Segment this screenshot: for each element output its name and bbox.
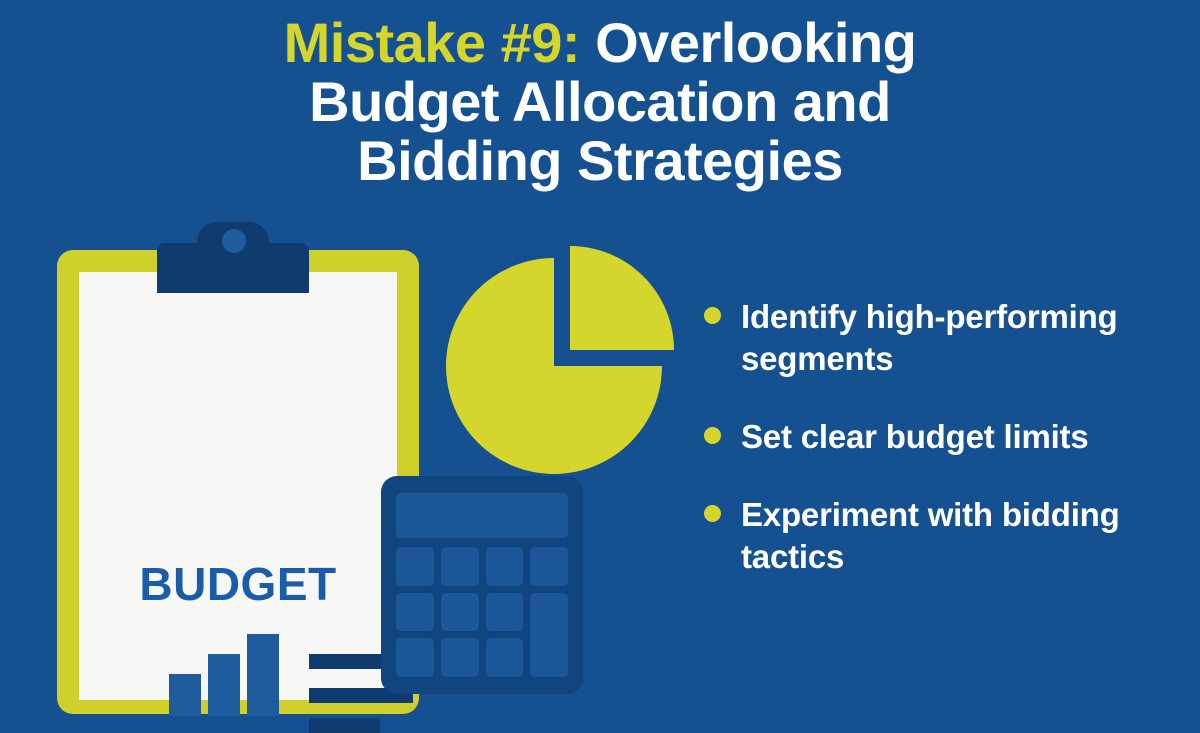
list-item: Identify high-performing segments: [704, 296, 1174, 380]
clipboard-clip-hole-icon: [222, 229, 246, 253]
calculator-display: [396, 493, 568, 538]
bar-chart-bar-2: [208, 654, 240, 716]
title-line-1: Mistake #9: Overlooking: [0, 14, 1200, 73]
calculator-key: [530, 547, 568, 586]
title-line-3: Bidding Strategies: [0, 132, 1200, 191]
calculator-key: [486, 593, 524, 632]
title-accent-text: Mistake #9:: [284, 11, 580, 74]
bullet-dot-icon: [704, 505, 721, 522]
calculator-keypad: [396, 547, 568, 677]
bullet-text: Identify high-performing segments: [741, 296, 1174, 380]
bullet-dot-icon: [704, 307, 721, 324]
bar-chart-bar-1: [169, 674, 201, 716]
page-title: Mistake #9: Overlooking Budget Allocatio…: [0, 14, 1200, 190]
calculator-key: [396, 638, 434, 677]
calculator-key-tall: [530, 593, 568, 677]
calculator-key: [441, 593, 479, 632]
title-line-1-rest: Overlooking: [580, 11, 916, 74]
text-line-3: [309, 718, 380, 733]
bullet-dot-icon: [704, 427, 721, 444]
calculator-key: [396, 547, 434, 586]
bar-chart-bar-3: [247, 634, 279, 716]
calculator-key: [486, 547, 524, 586]
pie-slice-allocated: [570, 246, 674, 350]
list-item: Set clear budget limits: [704, 416, 1174, 458]
bullet-list: Identify high-performing segments Set cl…: [704, 296, 1174, 614]
bullet-text: Set clear budget limits: [741, 416, 1089, 458]
calculator-key: [441, 547, 479, 586]
calculator-key: [441, 638, 479, 677]
infographic-canvas: Mistake #9: Overlooking Budget Allocatio…: [0, 0, 1200, 733]
title-line-2: Budget Allocation and: [0, 73, 1200, 132]
bullet-text: Experiment with bidding tactics: [741, 494, 1174, 578]
clipboard-illustration: BUDGET $ PLUGRUSH: [57, 250, 419, 714]
calculator-key: [486, 638, 524, 677]
list-item: Experiment with bidding tactics: [704, 494, 1174, 578]
calculator-key: [396, 593, 434, 632]
calculator-illustration: [381, 476, 583, 694]
pie-chart-illustration: [444, 236, 684, 476]
budget-heading: BUDGET: [57, 557, 419, 611]
clipboard-page: [79, 272, 397, 700]
